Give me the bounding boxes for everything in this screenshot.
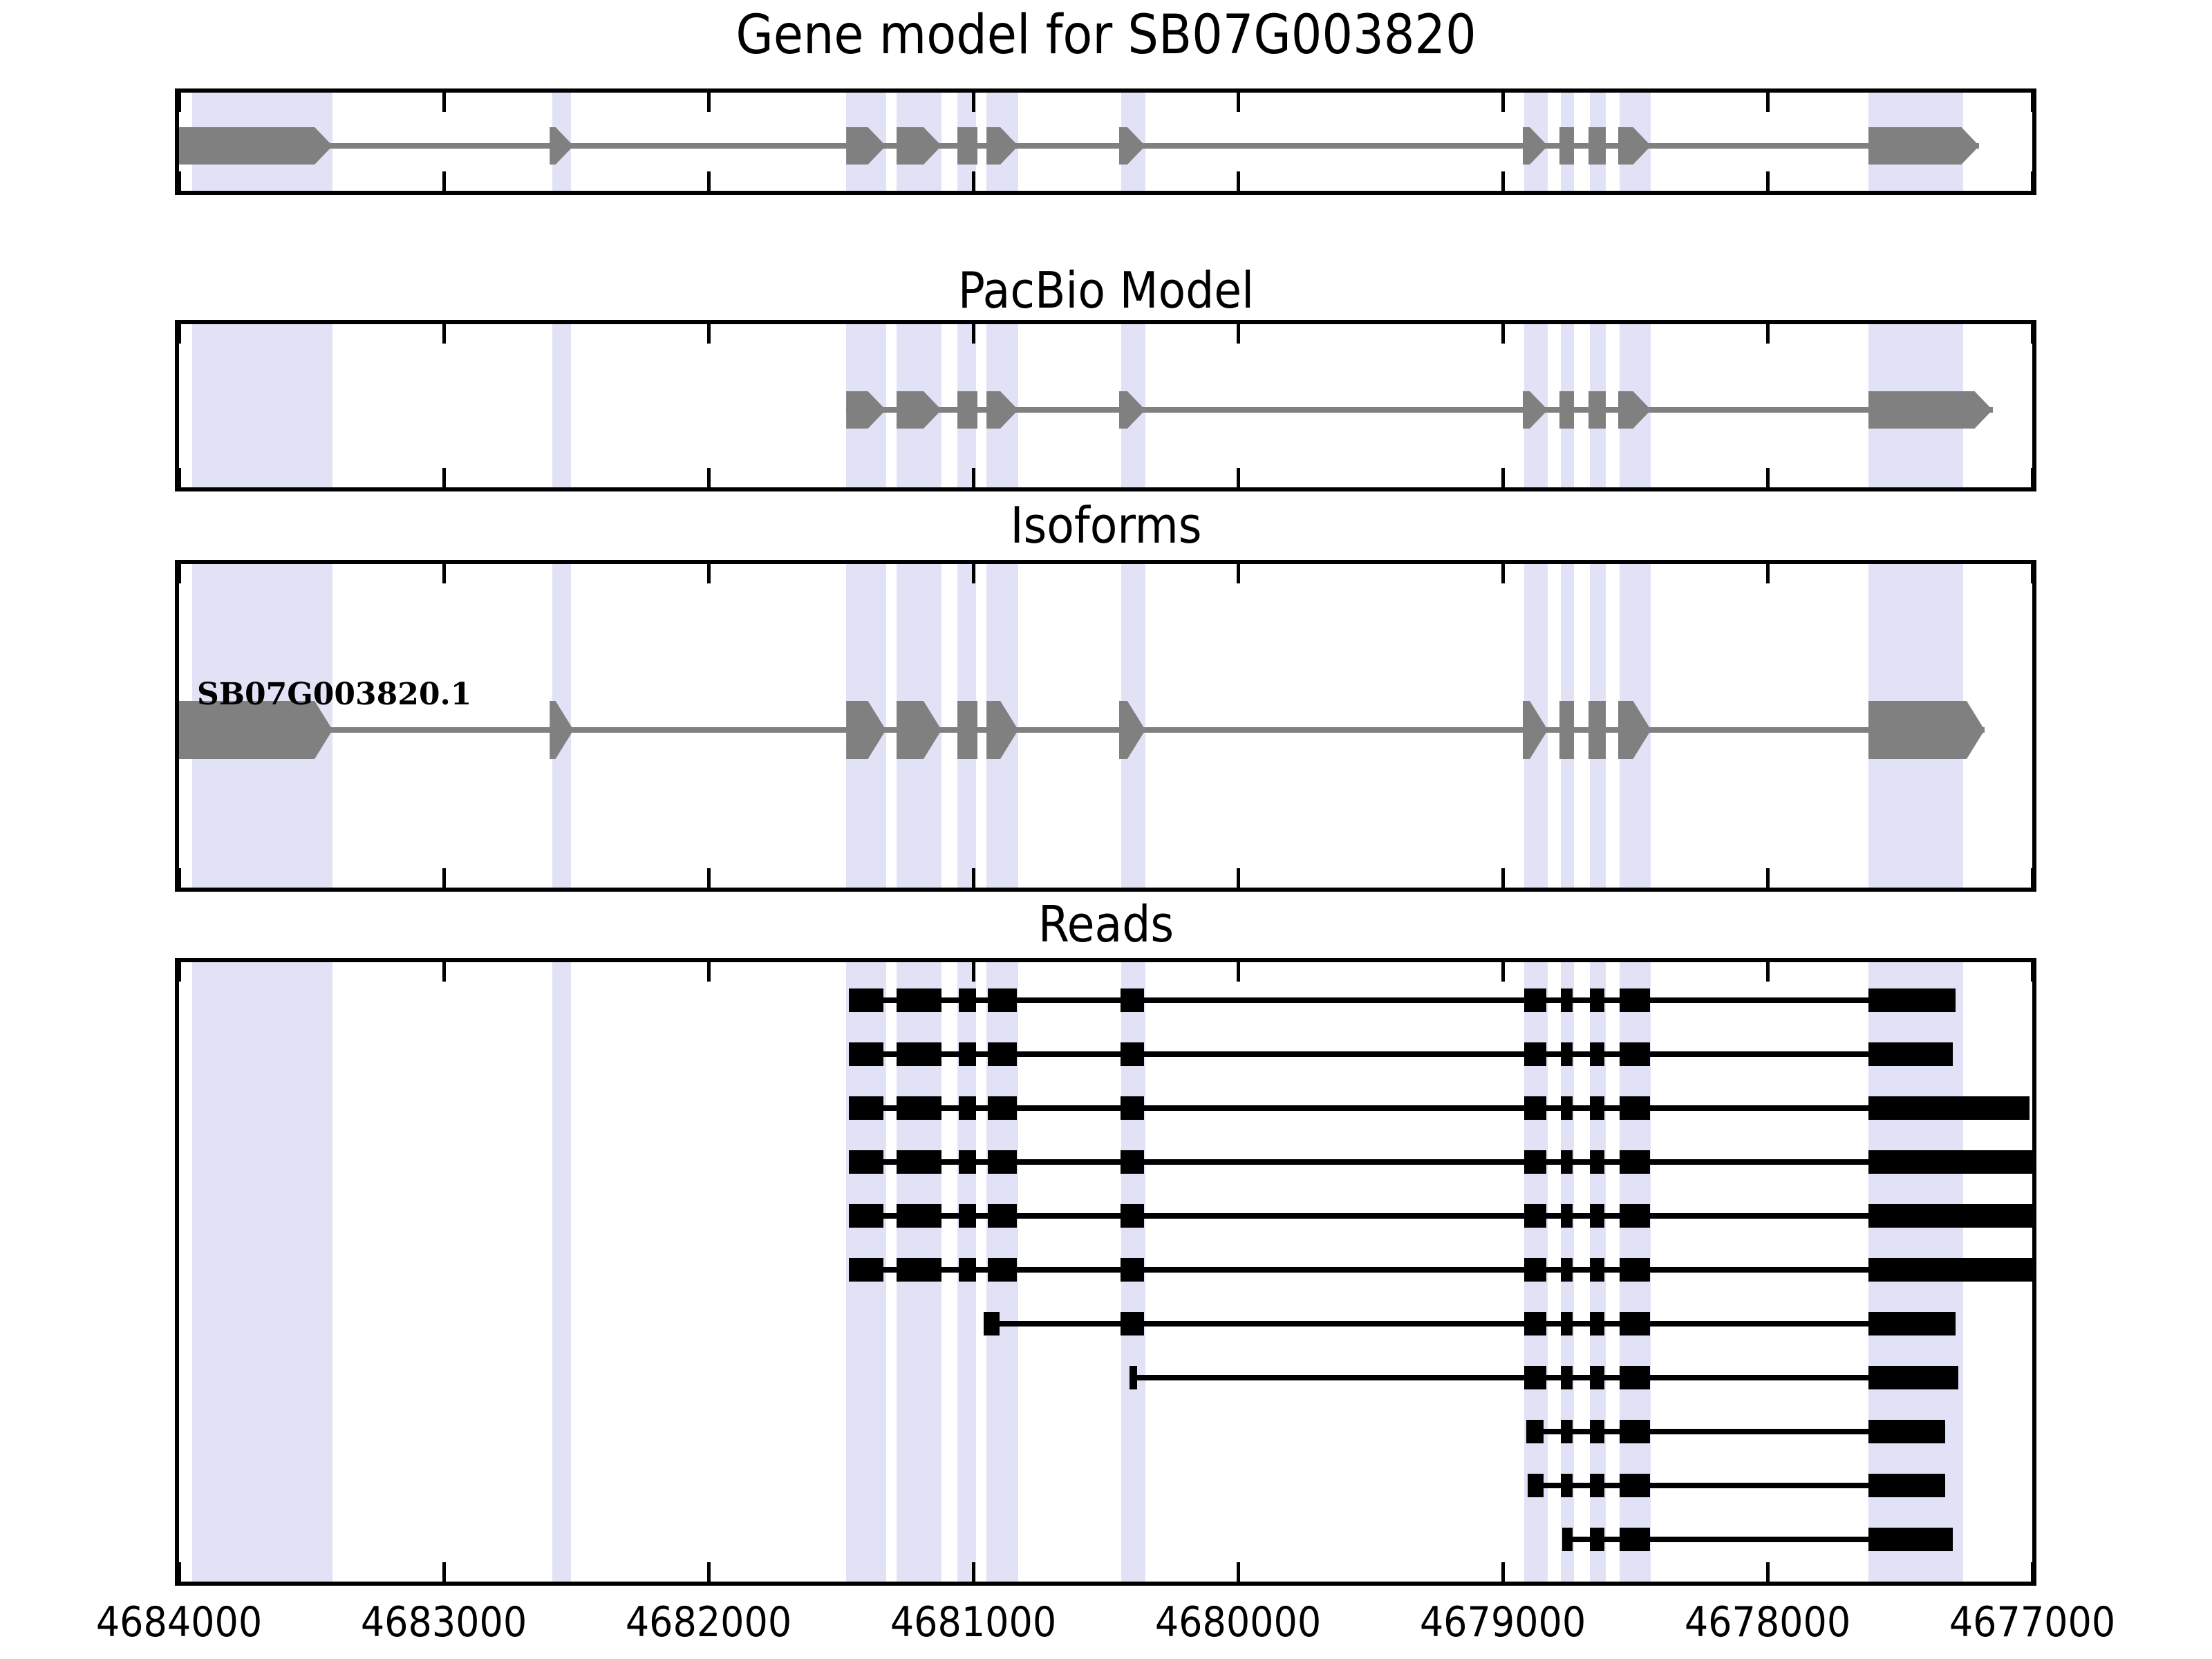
read-exon-4	[1620, 1474, 1650, 1497]
axis-tick-label-1: 4683000	[361, 1598, 527, 1647]
axis-tick	[1501, 564, 1505, 583]
read-exon-7	[1561, 1150, 1573, 1174]
read-exon-3	[1561, 1366, 1573, 1389]
axis-tick	[707, 171, 711, 191]
read-exon-1	[1526, 1420, 1544, 1443]
exon-9	[1559, 127, 1574, 165]
read-exon-4	[988, 1150, 1017, 1174]
axis-tick	[1501, 93, 1505, 112]
axis-tick	[1766, 324, 1770, 344]
read-exon-3	[959, 1204, 976, 1228]
read-exon-5	[1868, 1420, 1945, 1443]
axis-tick	[178, 93, 181, 112]
pacbio-model-title: PacBio Model	[0, 261, 2212, 319]
read-exon-1	[849, 1042, 883, 1066]
axis-tick	[178, 962, 181, 982]
isoforms-axes: SB07G003820.1	[175, 560, 2036, 892]
axis-tick	[1237, 171, 1240, 191]
read-exon-5	[1121, 1204, 1144, 1228]
read-exon-9	[1620, 1096, 1650, 1120]
axis-tick	[442, 324, 446, 344]
axis-tick	[178, 564, 181, 583]
read-exon-6	[1620, 1312, 1650, 1335]
read-exon-1	[849, 1204, 883, 1228]
axis-tick	[1237, 868, 1240, 888]
read-exon-2	[897, 1096, 941, 1120]
read-exon-8	[1590, 1150, 1604, 1174]
read-exon-9	[1620, 1204, 1650, 1228]
read-exon-10	[1868, 1042, 1953, 1066]
axis-tick	[1237, 1562, 1240, 1582]
axis-tick	[2031, 468, 2034, 487]
read-exon-3	[959, 988, 976, 1012]
axis-tick	[1501, 962, 1505, 982]
read-exon-4	[1868, 1528, 1953, 1551]
read-exon-1	[849, 1096, 883, 1120]
axis-tick	[1766, 468, 1770, 487]
axis-tick	[2031, 171, 2034, 191]
axis-tick	[707, 1562, 711, 1582]
read-exon-7	[1561, 988, 1573, 1012]
exon-10	[1588, 701, 1606, 759]
read-exon-10	[1868, 1096, 2030, 1120]
read-exon-1	[849, 1258, 883, 1282]
read-exon-3	[959, 1096, 976, 1120]
axis-tick	[1501, 468, 1505, 487]
axis-tick	[972, 93, 975, 112]
axis-tick	[1237, 468, 1240, 487]
read-exon-9	[1620, 1258, 1650, 1282]
axis-tick	[972, 564, 975, 583]
axis-tick	[972, 868, 975, 888]
axis-tick	[442, 171, 446, 191]
read-exon-4	[988, 1096, 1017, 1120]
axis-tick	[1501, 171, 1505, 191]
read-exon-9	[1620, 1150, 1650, 1174]
read-exon-5	[1121, 1096, 1144, 1120]
exon-7	[1559, 391, 1574, 429]
axis-tick-label-4: 4680000	[1155, 1598, 1321, 1647]
axis-tick-label-7: 4677000	[1949, 1598, 2115, 1647]
read-exon-5	[1121, 1042, 1144, 1066]
read-exon-5	[1868, 1474, 1945, 1497]
highlight-band	[552, 324, 571, 487]
read-intron-line	[849, 1213, 2032, 1219]
read-exon-10	[1868, 1204, 2032, 1228]
read-exon-3	[959, 1258, 976, 1282]
read-exon-1	[849, 1150, 883, 1174]
read-exon-6	[1524, 1096, 1547, 1120]
exon-5	[957, 701, 977, 759]
axis-tick	[442, 564, 446, 583]
axis-tick	[707, 962, 711, 982]
axis-tick-label-2: 4682000	[626, 1598, 791, 1647]
read-exon-5	[1121, 988, 1144, 1012]
read-exon-3	[959, 1150, 976, 1174]
highlight-band	[552, 962, 571, 1582]
axis-tick	[2031, 324, 2034, 344]
read-exon-2	[1561, 1474, 1573, 1497]
axis-tick-label-3: 4681000	[890, 1598, 1056, 1647]
gene-model-axes	[175, 88, 2036, 195]
axis-tick	[1237, 564, 1240, 583]
read-exon-2	[897, 988, 941, 1012]
read-exon-3	[1620, 1528, 1650, 1551]
read-exon-4	[988, 1204, 1017, 1228]
intron-line	[179, 143, 1979, 149]
axis-tick	[442, 468, 446, 487]
axis-tick-label-5: 4679000	[1420, 1598, 1586, 1647]
axis-tick	[707, 468, 711, 487]
read-exon-4	[988, 988, 1017, 1012]
gene-model-figure: Gene model for SB07G003820 PacBio Model …	[0, 0, 2212, 1659]
read-exon-8	[1590, 1258, 1604, 1282]
read-exon-6	[1524, 1150, 1547, 1174]
read-exon-5	[1121, 1258, 1144, 1282]
read-intron-line	[849, 1159, 2032, 1165]
read-exon-8	[1590, 1042, 1604, 1066]
axis-tick	[972, 171, 975, 191]
axis-tick	[707, 324, 711, 344]
read-exon-6	[1524, 1258, 1547, 1282]
exon-1	[179, 127, 332, 165]
axis-tick	[1766, 962, 1770, 982]
axis-tick	[178, 468, 181, 487]
read-exon-2	[1561, 1420, 1573, 1443]
axis-tick	[1501, 324, 1505, 344]
read-exon-3	[1590, 1420, 1604, 1443]
axis-tick	[1237, 962, 1240, 982]
figure-title: Gene model for SB07G003820	[0, 4, 2212, 66]
axis-tick	[1766, 1562, 1770, 1582]
axis-tick	[707, 868, 711, 888]
exon-3	[957, 391, 977, 429]
read-exon-2	[1121, 1312, 1144, 1335]
read-intron-line	[849, 1105, 2030, 1111]
exon-12	[1868, 127, 1980, 165]
read-exon-3	[959, 1042, 976, 1066]
axis-tick	[972, 1562, 975, 1582]
read-exon-7	[1561, 1096, 1573, 1120]
read-exon-4	[988, 1258, 1017, 1282]
axis-tick	[2031, 93, 2034, 112]
read-exon-4	[988, 1042, 1017, 1066]
axis-tick	[1766, 171, 1770, 191]
read-exon-9	[1620, 988, 1650, 1012]
axis-tick	[2031, 962, 2034, 982]
axis-tick-label-0: 4684000	[96, 1598, 262, 1647]
read-exon-8	[1590, 1204, 1604, 1228]
axis-tick	[707, 93, 711, 112]
read-exon-5	[1590, 1312, 1604, 1335]
isoforms-title: Isoforms	[0, 496, 2212, 554]
axis-tick	[707, 564, 711, 583]
axis-tick	[178, 324, 181, 344]
axis-tick	[972, 962, 975, 982]
axis-tick	[1766, 93, 1770, 112]
read-exon-7	[1561, 1258, 1573, 1282]
axis-tick	[2031, 868, 2034, 888]
read-exon-6	[1524, 1042, 1547, 1066]
exon-10	[1868, 391, 1993, 429]
read-exon-6	[1868, 1366, 1958, 1389]
exon-5	[957, 127, 977, 165]
read-exon-10	[1868, 1150, 2032, 1174]
read-exon-3	[1524, 1312, 1547, 1335]
read-exon-7	[1868, 1312, 1956, 1335]
axis-tick	[2031, 564, 2034, 583]
axis-tick	[442, 868, 446, 888]
read-exon-5	[1620, 1366, 1650, 1389]
exon-8	[1588, 391, 1606, 429]
read-exon-1	[1562, 1528, 1573, 1551]
read-exon-1	[849, 988, 883, 1012]
axis-tick	[1766, 868, 1770, 888]
exon-12	[1868, 701, 1985, 759]
exon-9	[1559, 701, 1574, 759]
axis-tick	[972, 468, 975, 487]
axis-tick	[1501, 1562, 1505, 1582]
read-exon-8	[1590, 1096, 1604, 1120]
read-exon-6	[1524, 988, 1547, 1012]
read-exon-2	[1524, 1366, 1547, 1389]
read-exon-3	[1590, 1474, 1604, 1497]
read-exon-7	[1561, 1042, 1573, 1066]
read-exon-2	[1590, 1528, 1604, 1551]
axis-tick	[1237, 324, 1240, 344]
read-exon-1	[984, 1312, 1000, 1335]
axis-tick	[442, 93, 446, 112]
highlight-band	[192, 324, 332, 487]
axis-tick	[178, 1562, 181, 1582]
exon-10	[1588, 127, 1606, 165]
read-exon-5	[1121, 1150, 1144, 1174]
axis-tick	[442, 962, 446, 982]
highlight-band	[192, 962, 332, 1582]
read-exon-2	[897, 1258, 941, 1282]
axis-tick	[442, 1562, 446, 1582]
reads-axes	[175, 958, 2036, 1586]
read-exon-8	[1590, 988, 1604, 1012]
intron-line	[179, 727, 1985, 733]
axis-tick	[972, 324, 975, 344]
axis-tick	[178, 868, 181, 888]
axis-tick	[1501, 868, 1505, 888]
read-exon-2	[897, 1204, 941, 1228]
read-exon-1	[1528, 1474, 1544, 1497]
read-exon-1	[1130, 1366, 1137, 1389]
reads-title: Reads	[0, 895, 2212, 953]
read-exon-4	[1590, 1366, 1604, 1389]
read-exon-9	[1620, 1042, 1650, 1066]
read-exon-4	[1561, 1312, 1573, 1335]
read-intron-line	[849, 1267, 2034, 1273]
read-exon-6	[1524, 1204, 1547, 1228]
read-exon-7	[1561, 1204, 1573, 1228]
pacbio-model-axes	[175, 320, 2036, 491]
axis-tick	[2031, 1562, 2034, 1582]
read-exon-4	[1620, 1420, 1650, 1443]
read-exon-10	[1868, 1258, 2034, 1282]
read-exon-2	[897, 1150, 941, 1174]
axis-tick	[1766, 564, 1770, 583]
isoform-label: SB07G003820.1	[197, 677, 471, 712]
axis-tick	[178, 171, 181, 191]
read-exon-10	[1868, 988, 1956, 1012]
read-exon-2	[897, 1042, 941, 1066]
axis-tick-label-6: 4678000	[1685, 1598, 1850, 1647]
axis-tick	[1237, 93, 1240, 112]
